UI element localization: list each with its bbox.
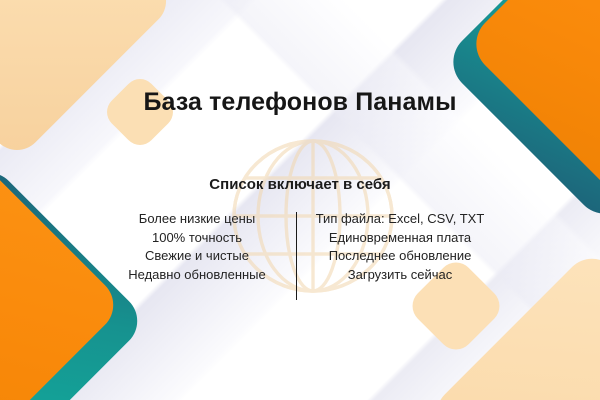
subtitle: Список включает в себя <box>0 176 600 193</box>
feature-list-left: Более низкие цены 100% точность Свежие и… <box>104 210 296 284</box>
list-item: Более низкие цены <box>104 210 290 229</box>
promo-banner: База телефонов Панамы Список включает в … <box>0 0 600 400</box>
list-item: Свежие и чистые <box>104 247 290 266</box>
list-item: Единовременная плата <box>303 229 497 248</box>
feature-list-right: Тип файла: Excel, CSV, TXT Единовременна… <box>297 210 497 284</box>
page-title: База телефонов Панамы <box>0 88 600 117</box>
list-item[interactable]: Загрузить сейчас <box>303 266 497 285</box>
list-item: Последнее обновление <box>303 247 497 266</box>
list-item: Тип файла: Excel, CSV, TXT <box>303 210 497 229</box>
list-item: Недавно обновленные <box>104 266 290 285</box>
list-item: 100% точность <box>104 229 290 248</box>
feature-columns: Более низкие цены 100% точность Свежие и… <box>104 210 496 300</box>
